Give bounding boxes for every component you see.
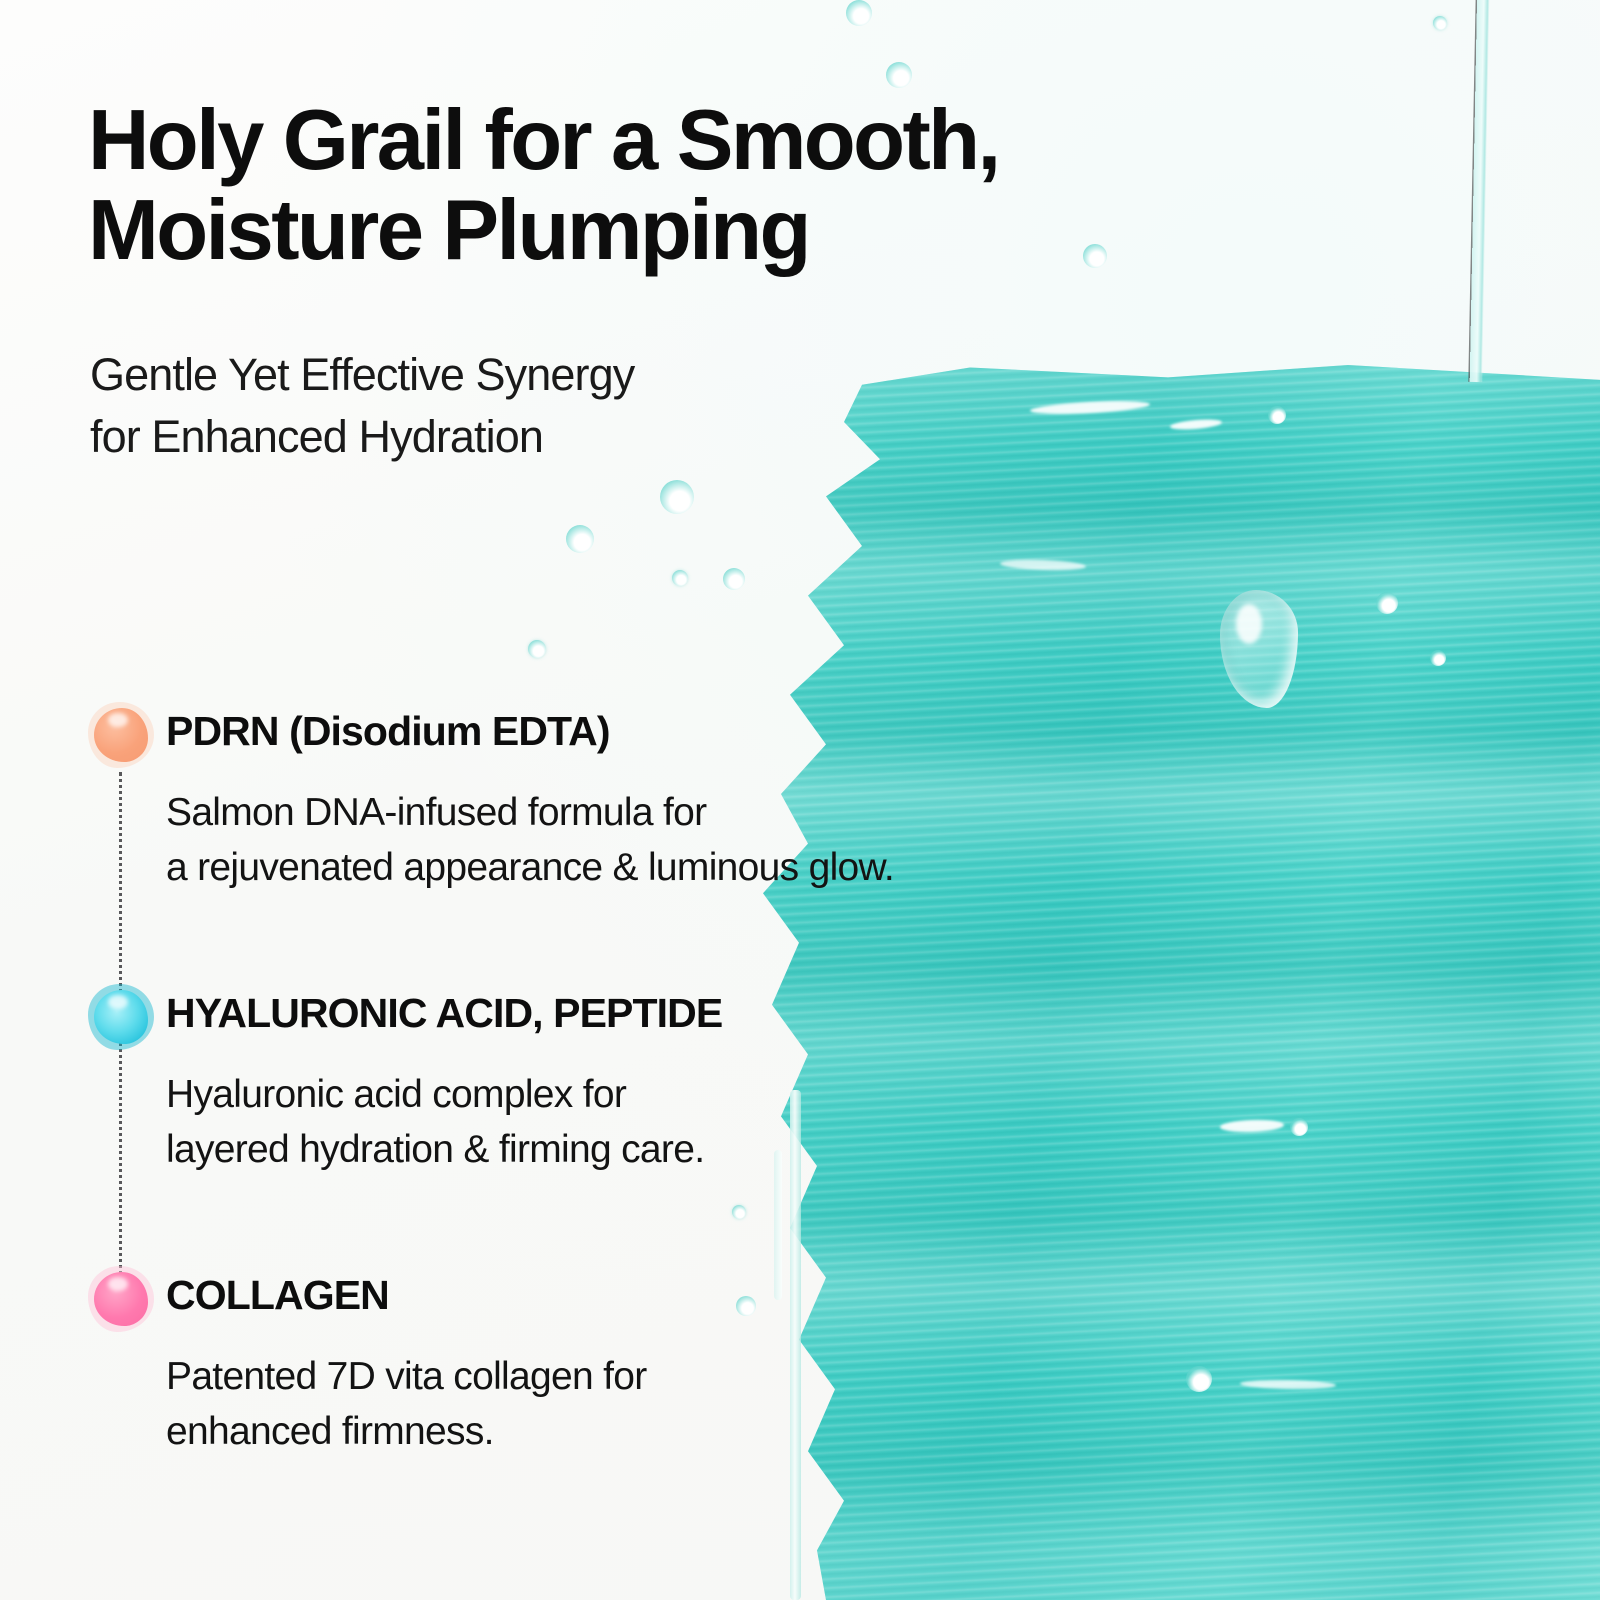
ingredient-description: Hyaluronic acid complex forlayered hydra… [166, 1068, 1166, 1177]
ingredient-description: Patented 7D vita collagen forenhanced fi… [166, 1350, 1166, 1459]
ingredient-name: PDRN (Disodium EDTA) [166, 708, 610, 755]
water-droplet-blob-icon [88, 984, 154, 1050]
collagen-blob-icon [88, 1266, 154, 1332]
ingredient-name: COLLAGEN [166, 1272, 389, 1319]
ingredient-description: Salmon DNA-infused formula fora rejuvena… [166, 786, 1166, 895]
salmon-dna-blob-icon [88, 702, 154, 768]
ingredient-list: PDRN (Disodium EDTA) Salmon DNA-infused … [0, 0, 1600, 1600]
ingredient-name: HYALURONIC ACID, PEPTIDE [166, 990, 722, 1037]
content-layer: Holy Grail for a Smooth,Moisture Plumpin… [0, 0, 1600, 1600]
